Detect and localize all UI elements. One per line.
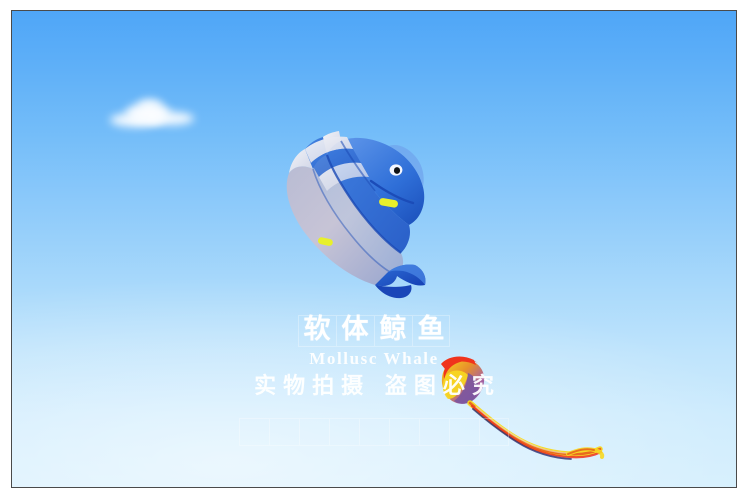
kite-tail (470, 403, 602, 459)
whale-eye-pupil (394, 167, 400, 174)
photo-frame: 软体鲸鱼 Mollusc Whale 实物拍摄 盗图必究 (11, 10, 737, 488)
whale-kite (275, 137, 445, 297)
delta-kite (432, 351, 607, 471)
whale-tail-lower (375, 285, 412, 298)
kite-canopy (441, 357, 484, 404)
whale-body (287, 131, 426, 298)
